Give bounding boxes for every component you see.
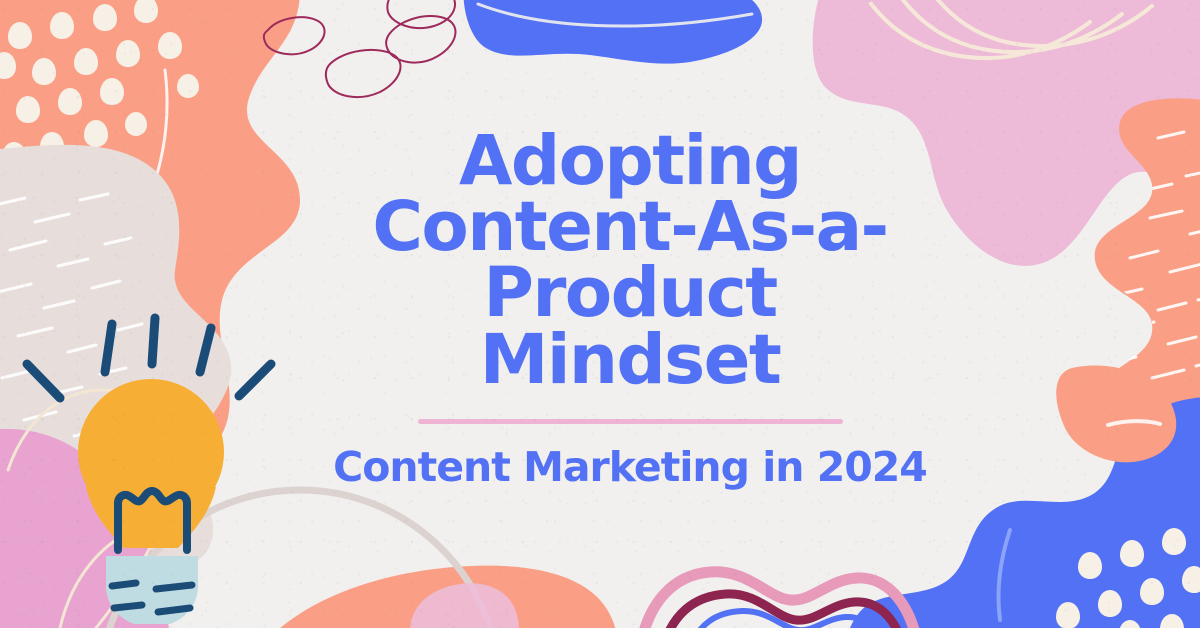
lightbulb-base	[106, 556, 198, 624]
pink-blob-bottom-center-left	[410, 583, 519, 628]
lightbulb-neck	[86, 487, 216, 548]
poster-canvas: Adopting Content-As-a-Product Mindset Co…	[0, 0, 1200, 628]
lightbulb-illustration	[27, 318, 271, 624]
foreground-decorations	[0, 0, 1200, 628]
nested-wavy-lines	[640, 572, 918, 628]
